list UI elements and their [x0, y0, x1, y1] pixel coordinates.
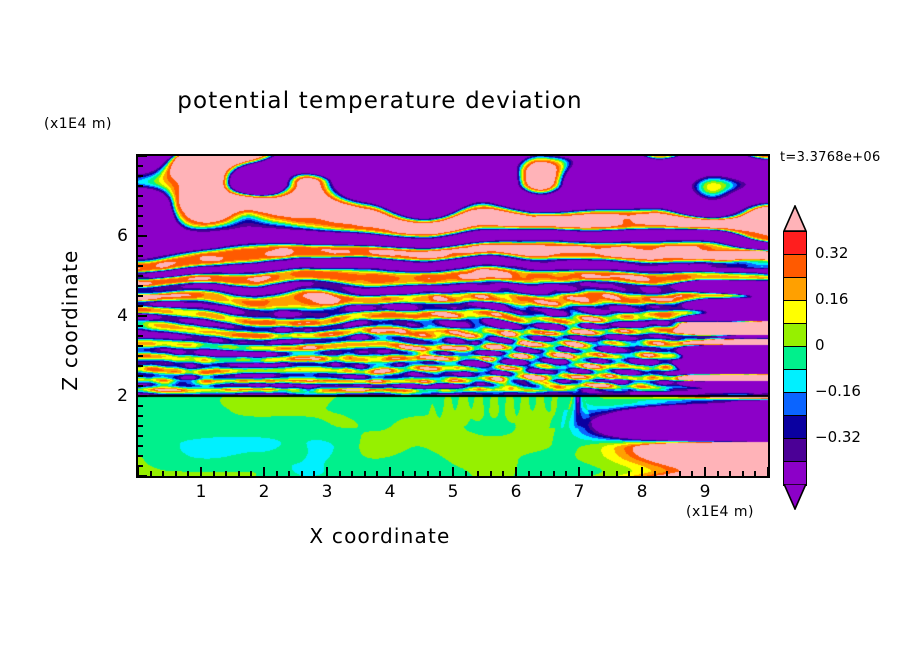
y-tick-minor: [138, 215, 143, 217]
temperature-deviation-field: [138, 156, 768, 476]
y-tick-major: [138, 395, 147, 397]
x-tick-minor: [691, 471, 693, 476]
time-annotation: t=3.3768e+06: [780, 150, 881, 165]
x-tick-minor: [301, 471, 303, 476]
y-tick-minor: [138, 325, 143, 327]
x-tick-minor: [364, 471, 366, 476]
y-tick-minor: [138, 295, 143, 297]
y-axis-title: Z coordinate: [58, 220, 82, 420]
x-tick-major: [452, 467, 454, 476]
x-tick-minor: [288, 471, 290, 476]
y-tick-minor: [138, 435, 143, 437]
y-tick-label: 4: [102, 306, 128, 326]
x-tick-major: [704, 467, 706, 476]
y-tick-minor: [138, 465, 143, 467]
x-tick-major: [200, 467, 202, 476]
y-tick-minor: [138, 385, 143, 387]
y-tick-minor: [138, 185, 143, 187]
colorbar-band: [783, 277, 807, 302]
x-tick-minor: [225, 471, 227, 476]
x-tick-label: 1: [186, 482, 216, 502]
colorbar-tick-label: 0: [815, 336, 825, 354]
colorbar-band: [783, 300, 807, 325]
y-tick-major: [138, 315, 147, 317]
x-tick-minor: [717, 471, 719, 476]
x-tick-label: 9: [690, 482, 720, 502]
colorbar-tick-label: −0.16: [815, 382, 861, 400]
x-tick-minor: [439, 471, 441, 476]
x-tick-major: [515, 467, 517, 476]
y-tick-minor: [138, 415, 143, 417]
colorbar-band: [783, 392, 807, 417]
y-axis-unit-label: (x1E4 m): [44, 116, 112, 132]
y-tick-label: 6: [102, 226, 128, 246]
y-tick-minor: [138, 355, 143, 357]
colorbar-band: [783, 415, 807, 440]
colorbar-band: [783, 438, 807, 463]
y-tick-minor: [138, 225, 143, 227]
x-tick-minor: [213, 471, 215, 476]
x-tick-minor: [502, 471, 504, 476]
x-tick-minor: [250, 471, 252, 476]
colorbar-tick-label: −0.32: [815, 428, 861, 446]
x-axis-unit-label: (x1E4 m): [686, 504, 754, 520]
x-tick-minor: [175, 471, 177, 476]
y-tick-minor: [138, 375, 143, 377]
y-tick-minor: [138, 365, 143, 367]
x-tick-major: [767, 467, 769, 476]
colorbar: 0.320.160−0.16−0.32: [783, 205, 807, 510]
x-tick-minor: [376, 471, 378, 476]
x-tick-minor: [742, 471, 744, 476]
y-tick-minor: [138, 425, 143, 427]
y-tick-minor: [138, 445, 143, 447]
x-tick-label: 2: [249, 482, 279, 502]
x-tick-label: 7: [564, 482, 594, 502]
x-tick-minor: [490, 471, 492, 476]
x-tick-minor: [339, 471, 341, 476]
x-tick-minor: [616, 471, 618, 476]
x-tick-minor: [187, 471, 189, 476]
x-tick-minor: [540, 471, 542, 476]
x-axis-title: X coordinate: [0, 524, 760, 548]
x-tick-minor: [150, 471, 152, 476]
page-title: potential temperature deviation: [0, 88, 760, 114]
x-tick-minor: [238, 471, 240, 476]
x-tick-minor: [565, 471, 567, 476]
colorbar-band: [783, 254, 807, 279]
x-tick-minor: [465, 471, 467, 476]
x-tick-minor: [654, 471, 656, 476]
x-tick-major: [326, 467, 328, 476]
y-tick-minor: [138, 305, 143, 307]
y-tick-minor: [138, 275, 143, 277]
x-tick-major: [389, 467, 391, 476]
x-tick-minor: [679, 471, 681, 476]
x-tick-label: 6: [501, 482, 531, 502]
colorbar-under-arrow: [783, 484, 807, 514]
x-tick-label: 8: [627, 482, 657, 502]
x-tick-minor: [427, 471, 429, 476]
x-tick-minor: [528, 471, 530, 476]
colorbar-tick-label: 0.32: [815, 244, 848, 262]
y-tick-label: 2: [102, 386, 128, 406]
x-tick-major: [641, 467, 643, 476]
y-tick-minor: [138, 455, 143, 457]
colorbar-band: [783, 323, 807, 348]
x-tick-minor: [666, 471, 668, 476]
x-tick-minor: [553, 471, 555, 476]
x-tick-minor: [351, 471, 353, 476]
colorbar-band: [783, 369, 807, 394]
y-tick-minor: [138, 285, 143, 287]
x-tick-minor: [628, 471, 630, 476]
x-tick-minor: [477, 471, 479, 476]
y-tick-minor: [138, 205, 143, 207]
x-tick-major: [263, 467, 265, 476]
x-tick-minor: [276, 471, 278, 476]
y-tick-major: [138, 155, 147, 157]
colorbar-band: [783, 461, 807, 486]
y-tick-minor: [138, 195, 143, 197]
colorbar-band: [783, 231, 807, 256]
x-tick-minor: [402, 471, 404, 476]
x-tick-label: 5: [438, 482, 468, 502]
y-tick-minor: [138, 335, 143, 337]
x-tick-minor: [754, 471, 756, 476]
y-tick-minor: [138, 345, 143, 347]
y-tick-minor: [138, 405, 143, 407]
colorbar-tick-label: 0.16: [815, 290, 848, 308]
y-tick-major: [138, 235, 147, 237]
x-tick-minor: [162, 471, 164, 476]
x-tick-minor: [729, 471, 731, 476]
y-tick-minor: [138, 265, 143, 267]
y-tick-minor: [138, 255, 143, 257]
colorbar-band: [783, 346, 807, 371]
contour-plot-area: [136, 154, 770, 478]
y-tick-minor: [138, 175, 143, 177]
x-tick-label: 4: [375, 482, 405, 502]
x-tick-major: [578, 467, 580, 476]
y-tick-minor: [138, 245, 143, 247]
x-tick-label: 3: [312, 482, 342, 502]
x-tick-minor: [603, 471, 605, 476]
x-tick-minor: [414, 471, 416, 476]
x-tick-minor: [313, 471, 315, 476]
x-tick-minor: [591, 471, 593, 476]
y-tick-major: [138, 475, 147, 477]
y-tick-minor: [138, 165, 143, 167]
